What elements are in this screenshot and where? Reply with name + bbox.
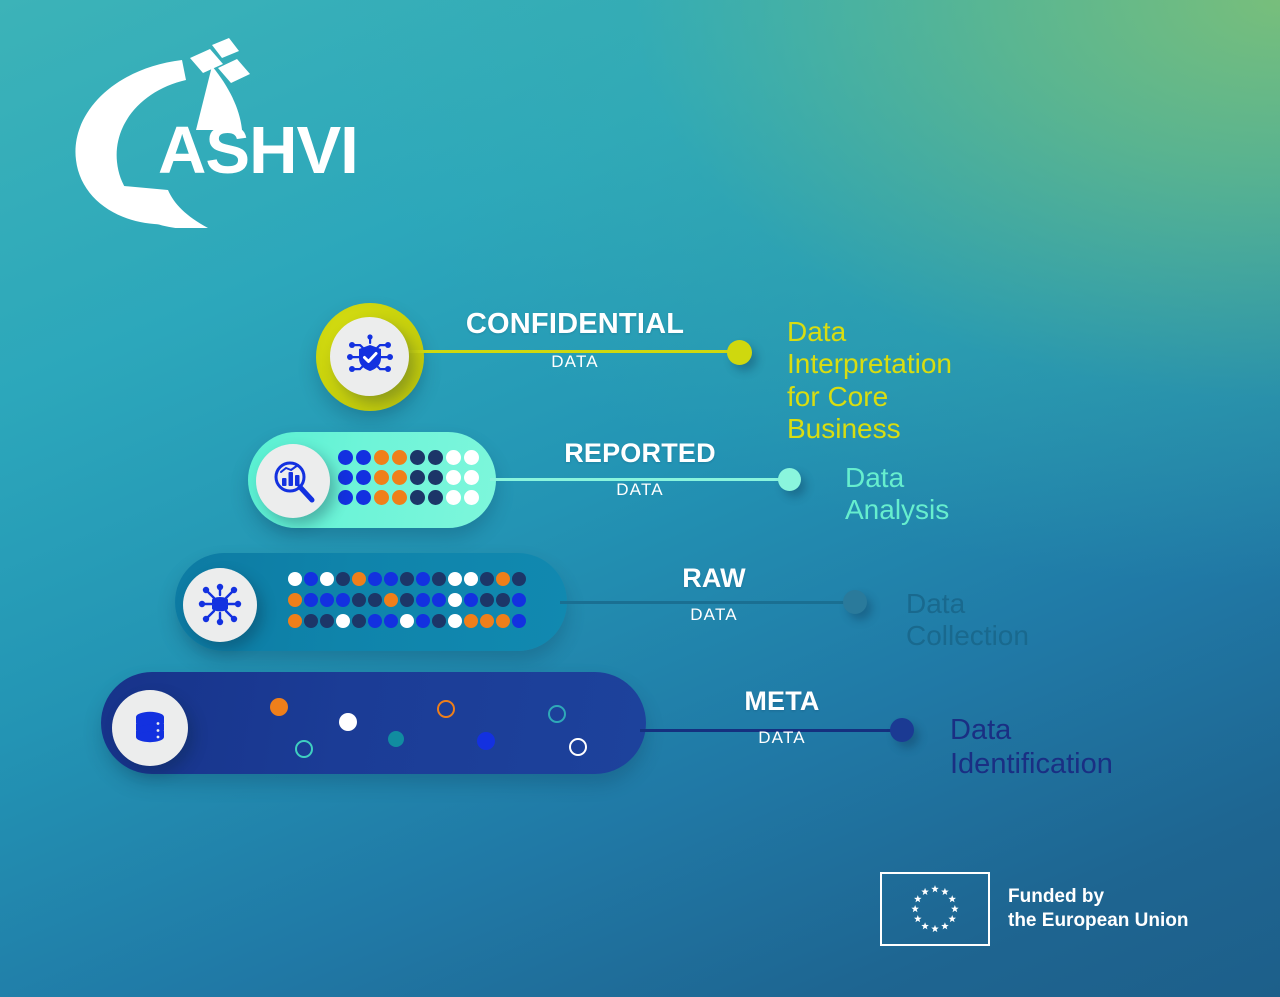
data-dot	[304, 614, 318, 628]
tier-sub-meta: DATA	[646, 729, 918, 746]
shield-network-icon	[330, 317, 409, 396]
data-dot	[464, 593, 478, 607]
data-dot	[437, 700, 455, 718]
stage-label-confidential: Data Interpretation for Core Business	[787, 316, 952, 446]
data-dot	[428, 470, 443, 485]
data-dot	[338, 450, 353, 465]
stage-label-raw: Data Collection	[906, 588, 1029, 653]
data-dot	[336, 572, 350, 586]
data-dot	[288, 614, 302, 628]
data-dot	[410, 450, 425, 465]
tier-meta[interactable]: META DATA Data Identification	[0, 0, 545, 102]
tier-name-reported: REPORTED	[500, 440, 780, 467]
database-network-icon	[183, 568, 257, 642]
data-dot	[569, 738, 587, 756]
database-stack-icon	[112, 690, 188, 766]
eu-star	[948, 895, 956, 902]
eu-star	[914, 895, 922, 902]
data-dot	[400, 572, 414, 586]
data-dot	[304, 572, 318, 586]
data-dot	[336, 593, 350, 607]
tier-name-confidential: CONFIDENTIAL	[430, 310, 720, 339]
data-dot	[448, 572, 462, 586]
data-dot	[410, 490, 425, 505]
stage-label-meta: Data Identification	[950, 714, 1113, 781]
magnifier-chart-icon	[256, 444, 330, 518]
tier-label-meta: META DATA	[646, 688, 918, 746]
dot-grid-raw	[288, 572, 528, 635]
data-dot	[446, 450, 461, 465]
data-dot	[368, 593, 382, 607]
data-dot	[384, 614, 398, 628]
data-dot	[480, 572, 494, 586]
data-dot	[356, 490, 371, 505]
data-dot	[352, 614, 366, 628]
data-dot	[464, 450, 479, 465]
data-dot	[338, 490, 353, 505]
eu-star	[911, 905, 919, 912]
data-dot	[416, 593, 430, 607]
data-dot	[496, 614, 510, 628]
data-dot	[512, 593, 526, 607]
eu-star	[948, 915, 956, 922]
data-dot	[448, 593, 462, 607]
stage-label-reported: Data Analysis	[845, 462, 949, 527]
dot-scatter-meta	[0, 0, 545, 102]
data-dot	[288, 593, 302, 607]
tier-label-reported: REPORTED DATA	[500, 440, 780, 498]
eu-star	[931, 925, 939, 932]
connector-knob-confidential	[727, 340, 752, 365]
data-dot	[448, 614, 462, 628]
data-dot	[512, 572, 526, 586]
data-dot	[496, 593, 510, 607]
data-dot	[320, 593, 334, 607]
data-dot	[392, 490, 407, 505]
european-union-flag-icon	[880, 872, 990, 946]
logo-wordmark: ASHVIN	[158, 113, 362, 188]
data-dot	[320, 614, 334, 628]
eu-star	[941, 888, 949, 895]
data-dot	[464, 470, 479, 485]
data-dot	[384, 593, 398, 607]
data-dot	[320, 572, 334, 586]
tier-label-confidential: CONFIDENTIAL DATA	[430, 310, 720, 370]
data-dot	[477, 732, 495, 750]
tier-name-raw: RAW	[578, 565, 850, 592]
data-dot	[512, 614, 526, 628]
data-dot	[400, 614, 414, 628]
data-dot	[304, 593, 318, 607]
data-dot	[392, 450, 407, 465]
tier-name-meta: META	[646, 688, 918, 715]
data-dot	[432, 572, 446, 586]
data-dot	[352, 572, 366, 586]
data-dot	[464, 572, 478, 586]
eu-funding-badge: Funded by the European Union	[880, 872, 1189, 946]
data-dot	[446, 470, 461, 485]
data-dot	[295, 740, 313, 758]
data-dot	[392, 470, 407, 485]
data-dot	[384, 572, 398, 586]
data-dot	[356, 470, 371, 485]
tier-sub-reported: DATA	[500, 481, 780, 498]
tier-sub-raw: DATA	[578, 606, 850, 623]
data-dot	[416, 572, 430, 586]
tier-sub-confidential: DATA	[430, 353, 720, 370]
tier-label-raw: RAW DATA	[578, 565, 850, 623]
data-dot	[352, 593, 366, 607]
eu-star	[931, 885, 939, 892]
data-dot	[400, 593, 414, 607]
data-dot	[356, 450, 371, 465]
data-dot	[336, 614, 350, 628]
data-dot	[428, 450, 443, 465]
eu-star	[921, 888, 929, 895]
data-dot	[374, 490, 389, 505]
eu-star	[941, 922, 949, 929]
data-dot	[374, 470, 389, 485]
data-dot	[270, 698, 288, 716]
data-dot	[480, 593, 494, 607]
eu-funding-text: Funded by the European Union	[1008, 885, 1189, 934]
data-dot	[496, 572, 510, 586]
data-dot	[464, 614, 478, 628]
data-dot	[432, 593, 446, 607]
data-dot	[446, 490, 461, 505]
data-dot	[480, 614, 494, 628]
data-dot	[338, 470, 353, 485]
eu-star	[951, 905, 959, 912]
data-dot	[388, 731, 404, 747]
data-dot	[432, 614, 446, 628]
data-dot	[368, 572, 382, 586]
data-dot	[428, 490, 443, 505]
data-dot	[374, 450, 389, 465]
data-dot	[288, 572, 302, 586]
eu-star	[921, 922, 929, 929]
dot-grid-reported	[338, 450, 482, 510]
data-dot	[339, 713, 357, 731]
data-dot	[548, 705, 566, 723]
data-dot	[416, 614, 430, 628]
data-dot	[410, 470, 425, 485]
data-dot	[464, 490, 479, 505]
connector-knob-reported	[778, 468, 801, 491]
data-dot	[368, 614, 382, 628]
eu-star	[914, 915, 922, 922]
